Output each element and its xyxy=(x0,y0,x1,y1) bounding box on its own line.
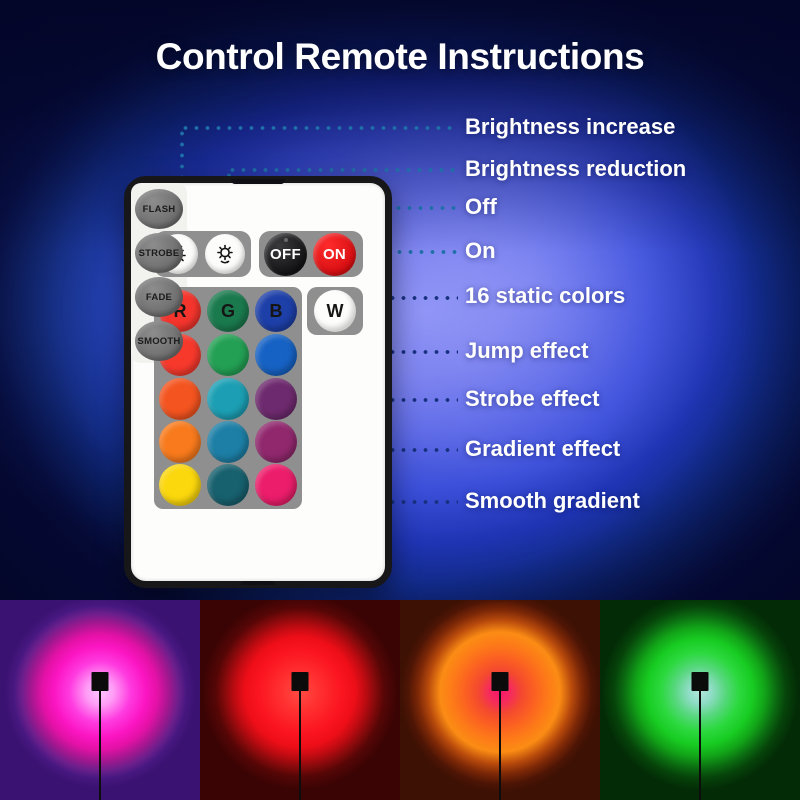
page-title: Control Remote Instructions xyxy=(0,36,800,78)
strobe-button-label: STROBE xyxy=(139,248,180,259)
color-button-b2[interactable] xyxy=(255,334,297,376)
callout-label-smooth-gradient: Smooth gradient xyxy=(465,488,640,514)
off-button[interactable]: OFF xyxy=(264,233,307,276)
color-button-label-g: G xyxy=(221,301,235,322)
color-button-g[interactable]: G xyxy=(207,290,249,332)
callout-label-jump-effect: Jump effect xyxy=(465,338,588,364)
color-button-g2[interactable] xyxy=(207,334,249,376)
lamp-pole xyxy=(299,684,301,800)
callout-label-brightness-increase: Brightness increase xyxy=(465,114,675,140)
callout-label-gradient-effect: Gradient effect xyxy=(465,436,620,462)
photo-red-projection xyxy=(200,600,400,800)
photo-green-projection xyxy=(600,600,800,800)
color-button-r3[interactable] xyxy=(159,378,201,420)
smooth-button-label: SMOOTH xyxy=(138,336,181,347)
on-button[interactable]: ON xyxy=(313,233,356,276)
color-button-b4[interactable] xyxy=(255,421,297,463)
fade-button[interactable]: FADE xyxy=(135,277,183,317)
color-button-b[interactable]: B xyxy=(255,290,297,332)
color-button-g3[interactable] xyxy=(207,378,249,420)
color-button-r5[interactable] xyxy=(159,464,201,506)
callout-label-brightness-reduction: Brightness reduction xyxy=(465,156,686,182)
smooth-button[interactable]: SMOOTH xyxy=(135,321,183,361)
color-button-b3[interactable] xyxy=(255,378,297,420)
background-top-shade xyxy=(0,0,800,600)
remote-top-notch xyxy=(231,179,285,184)
callout-label-off: Off xyxy=(465,194,497,220)
fade-button-label: FADE xyxy=(146,292,172,303)
color-button-g4[interactable] xyxy=(207,421,249,463)
lamp-pole xyxy=(99,684,101,800)
sun-down-icon xyxy=(212,241,238,267)
off-button-label: OFF xyxy=(270,246,301,263)
color-button-b5[interactable] xyxy=(255,464,297,506)
lamp-pole xyxy=(699,684,701,800)
leader-horizontal-brightness-increase xyxy=(180,126,458,130)
power-button-pad: OFF ON xyxy=(259,231,363,277)
product-photo-strip xyxy=(0,600,800,800)
leader-horizontal-brightness-reduction xyxy=(227,168,458,172)
white-button[interactable]: W xyxy=(314,290,356,332)
color-button-g5[interactable] xyxy=(207,464,249,506)
color-button-label-b: B xyxy=(270,301,283,322)
off-indicator-dot xyxy=(284,238,288,242)
photo-orange-projection xyxy=(400,600,600,800)
remote-control: OFF ON R G B W xyxy=(124,176,392,588)
flash-button-label: FLASH xyxy=(143,204,176,215)
white-button-label: W xyxy=(327,301,344,322)
callout-label-static-colors: 16 static colors xyxy=(465,283,625,309)
brightness-down-button[interactable] xyxy=(205,234,245,274)
white-button-pad: W xyxy=(307,287,363,335)
color-button-r4[interactable] xyxy=(159,421,201,463)
callout-label-on: On xyxy=(465,238,496,264)
flash-button[interactable]: FLASH xyxy=(135,189,183,229)
remote-bottom-notch xyxy=(241,581,275,585)
lamp-pole xyxy=(499,684,501,800)
photo-pink-projection xyxy=(0,600,200,800)
on-button-label: ON xyxy=(323,246,346,263)
callout-label-strobe-effect: Strobe effect xyxy=(465,386,599,412)
color-button-pad: R G B xyxy=(154,287,302,509)
infographic-panel: Control Remote Instructions Brightness i… xyxy=(0,0,800,600)
strobe-button[interactable]: STROBE xyxy=(135,233,183,273)
